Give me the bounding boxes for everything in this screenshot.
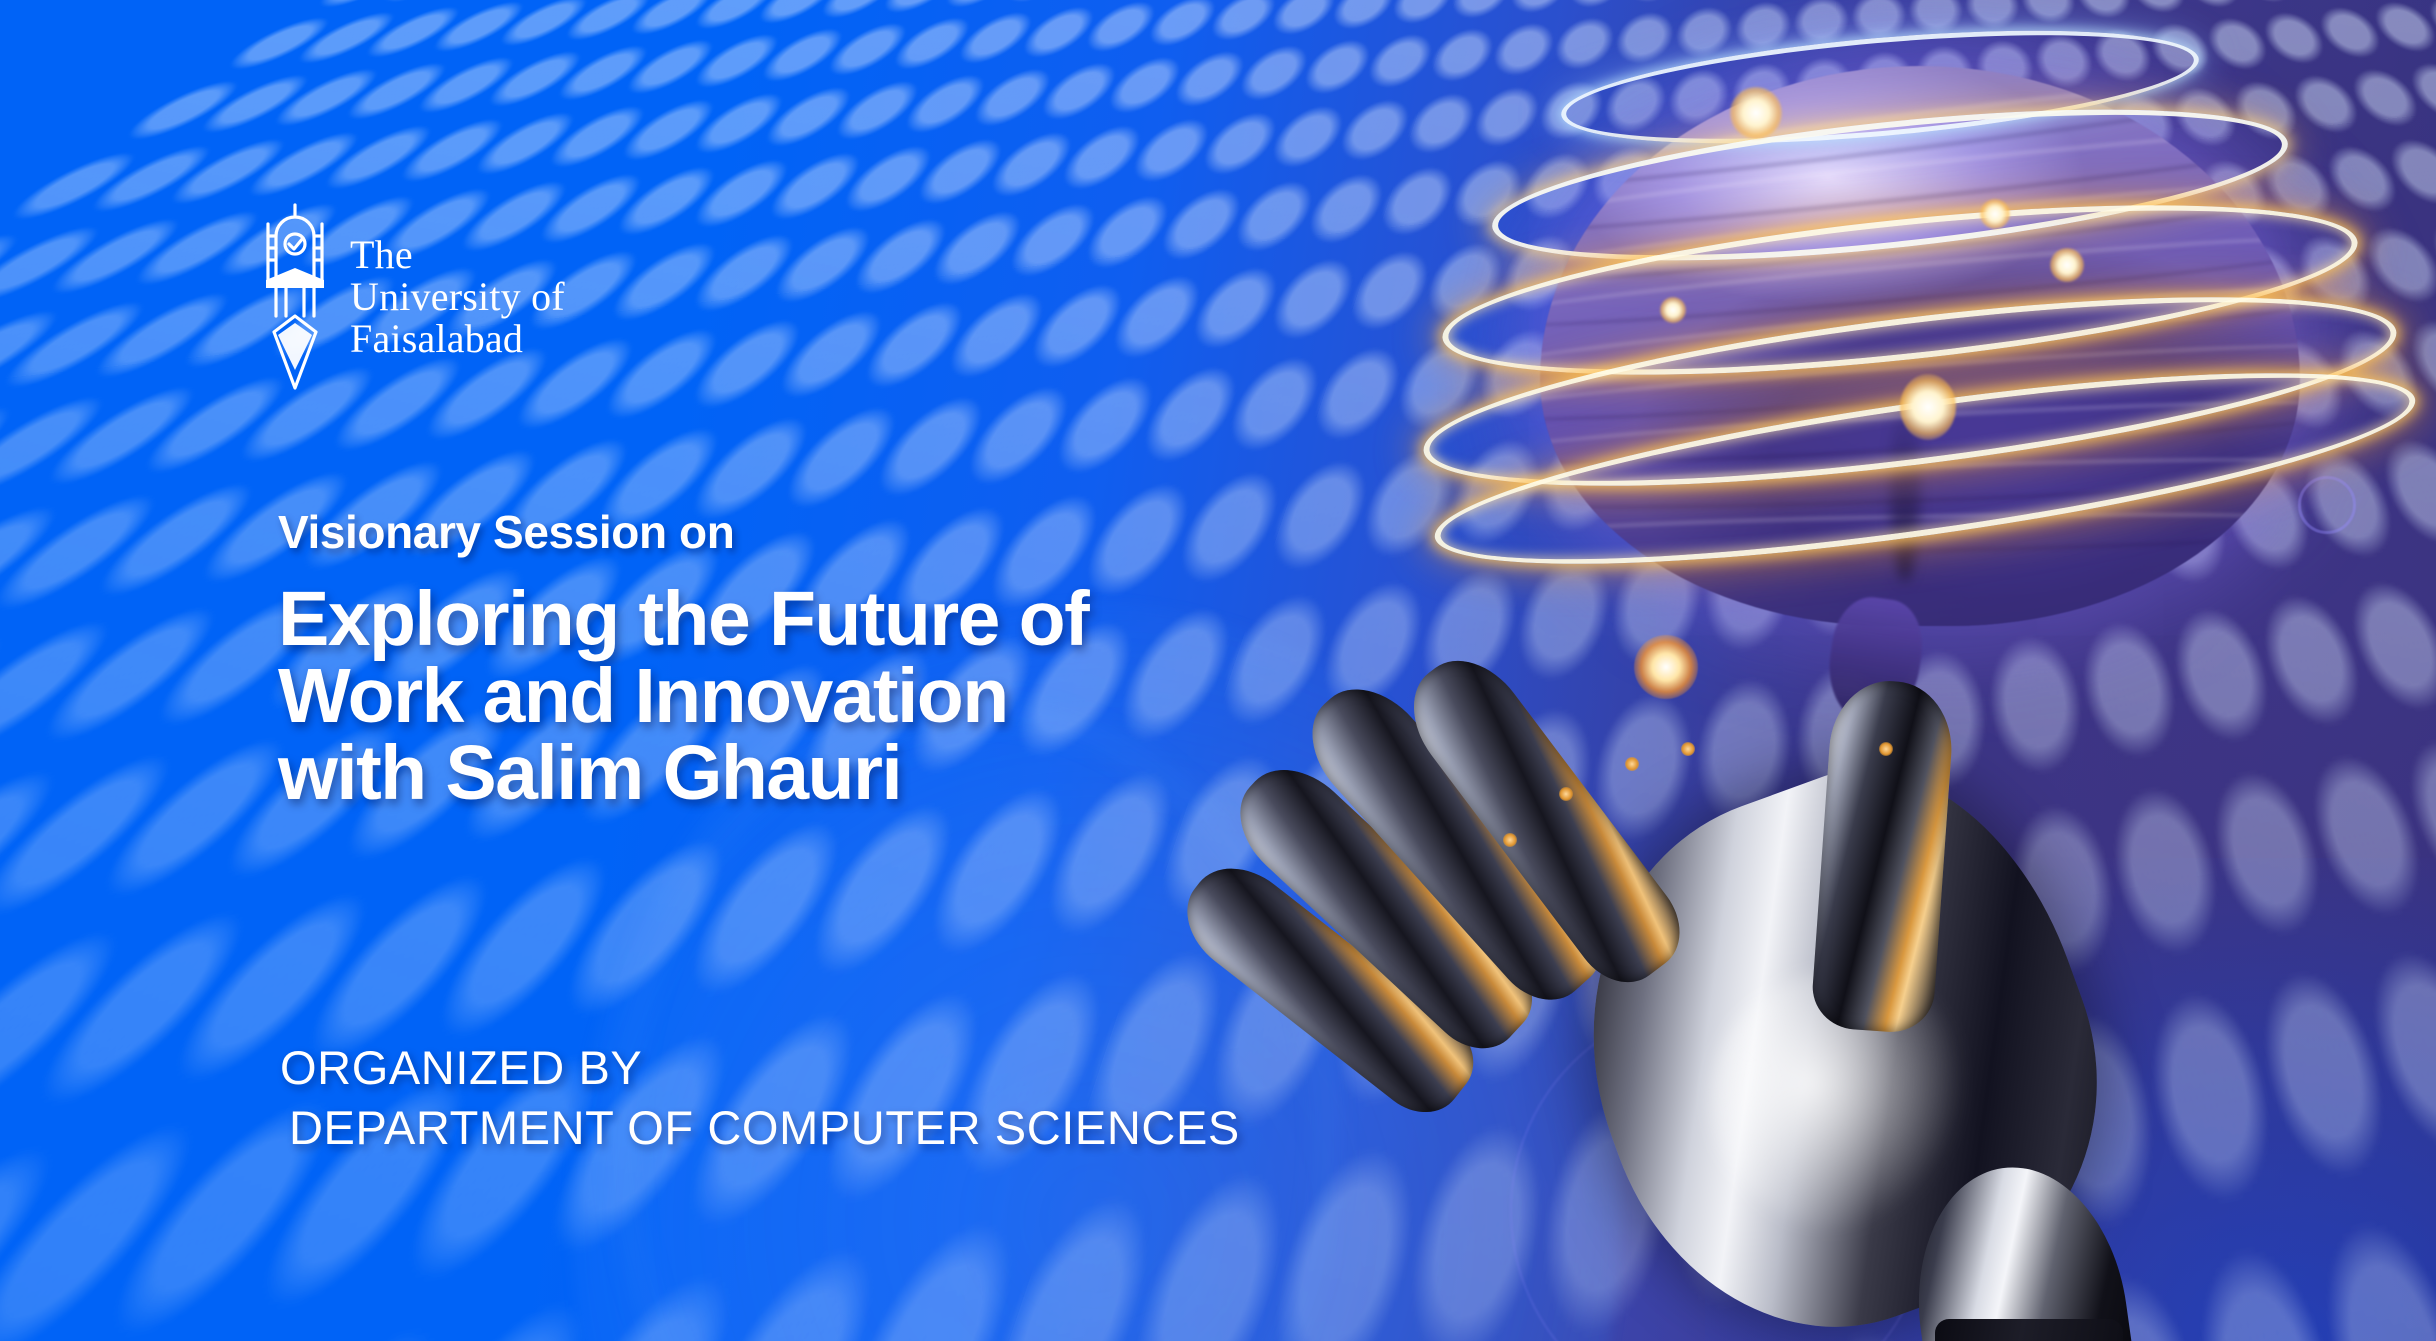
logo-line-2: University of — [350, 276, 565, 318]
headline-block: Visionary Session on Exploring the Futur… — [278, 505, 1458, 812]
event-banner: The University of Faisalabad Visionary S… — [0, 0, 2436, 1341]
session-eyebrow: Visionary Session on — [278, 505, 1458, 559]
logo-line-3: Faisalabad — [350, 318, 565, 360]
clock-tower-pencil-icon — [262, 202, 328, 392]
page-title: Exploring the Future of Work and Innovat… — [278, 581, 1458, 812]
logo-line-1: The — [350, 234, 565, 276]
title-line-2: Work and Innovation — [278, 658, 1458, 735]
banner-content: The University of Faisalabad Visionary S… — [0, 0, 2436, 1341]
organized-by-label: ORGANIZED BY — [280, 1038, 1240, 1098]
organizer-department: DEPARTMENT OF COMPUTER SCIENCES — [280, 1098, 1240, 1158]
university-wordmark: The University of Faisalabad — [350, 234, 565, 360]
title-line-3: with Salim Ghauri — [278, 735, 1458, 812]
title-line-1: Exploring the Future of — [278, 581, 1458, 658]
university-logo: The University of Faisalabad — [262, 202, 565, 392]
organizer-block: ORGANIZED BY DEPARTMENT OF COMPUTER SCIE… — [280, 1038, 1240, 1158]
